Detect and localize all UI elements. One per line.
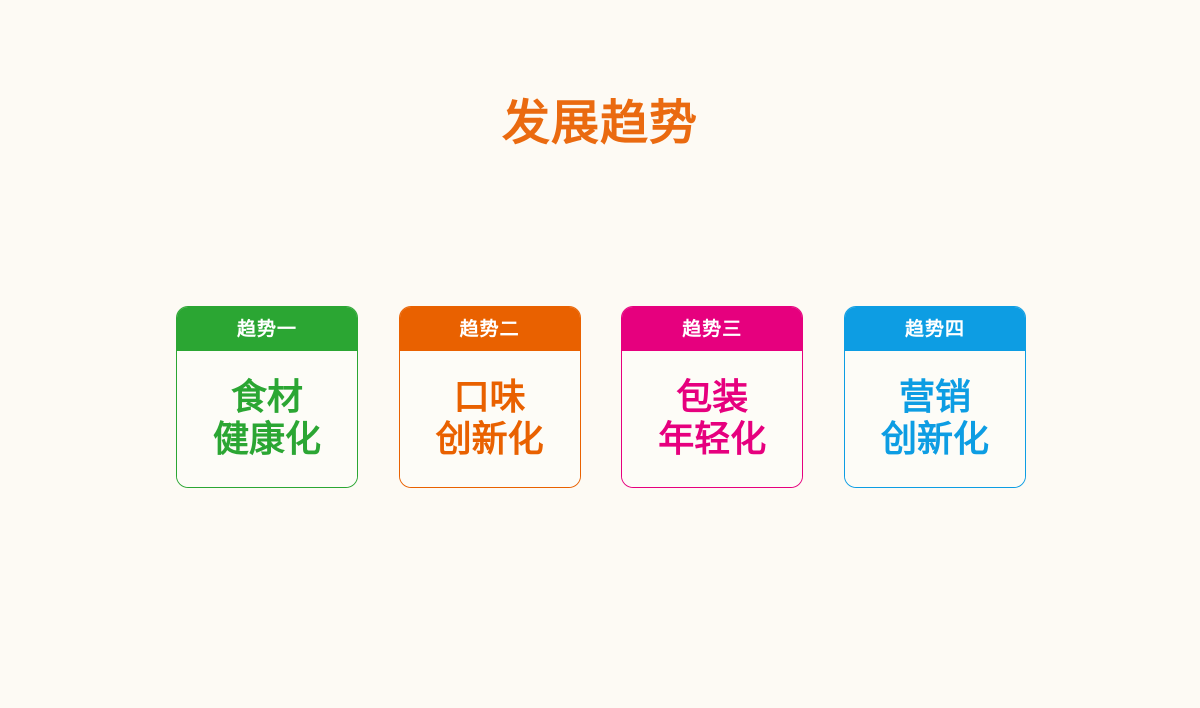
trend-card-line-2: 年轻化 [658, 418, 766, 460]
trend-card-line-1: 口味 [454, 376, 526, 418]
trend-card-header: 趋势二 [400, 307, 580, 351]
trend-card-body: 营销 创新化 [845, 351, 1025, 487]
trend-card-line-2: 健康化 [213, 418, 321, 460]
slide-canvas: 发展趋势 趋势一 食材 健康化 趋势二 口味 创新化 趋势三 包装 年轻化 趋势… [0, 0, 1200, 708]
page-title: 发展趋势 [0, 98, 1200, 151]
trend-cards-row: 趋势一 食材 健康化 趋势二 口味 创新化 趋势三 包装 年轻化 趋势四 营销 [176, 306, 1026, 488]
trend-card-line-2: 创新化 [881, 418, 989, 460]
trend-card-line-2: 创新化 [436, 418, 544, 460]
trend-card-body: 包装 年轻化 [622, 351, 802, 487]
trend-card-line-1: 包装 [676, 376, 748, 418]
trend-card-line-1: 食材 [231, 376, 303, 418]
trend-card[interactable]: 趋势一 食材 健康化 [176, 306, 358, 488]
trend-card[interactable]: 趋势四 营销 创新化 [844, 306, 1026, 488]
trend-card-body: 口味 创新化 [400, 351, 580, 487]
trend-card[interactable]: 趋势二 口味 创新化 [399, 306, 581, 488]
trend-card[interactable]: 趋势三 包装 年轻化 [621, 306, 803, 488]
trend-card-header: 趋势四 [845, 307, 1025, 351]
trend-card-line-1: 营销 [899, 376, 971, 418]
trend-card-body: 食材 健康化 [177, 351, 357, 487]
trend-card-header: 趋势一 [177, 307, 357, 351]
trend-card-header: 趋势三 [622, 307, 802, 351]
